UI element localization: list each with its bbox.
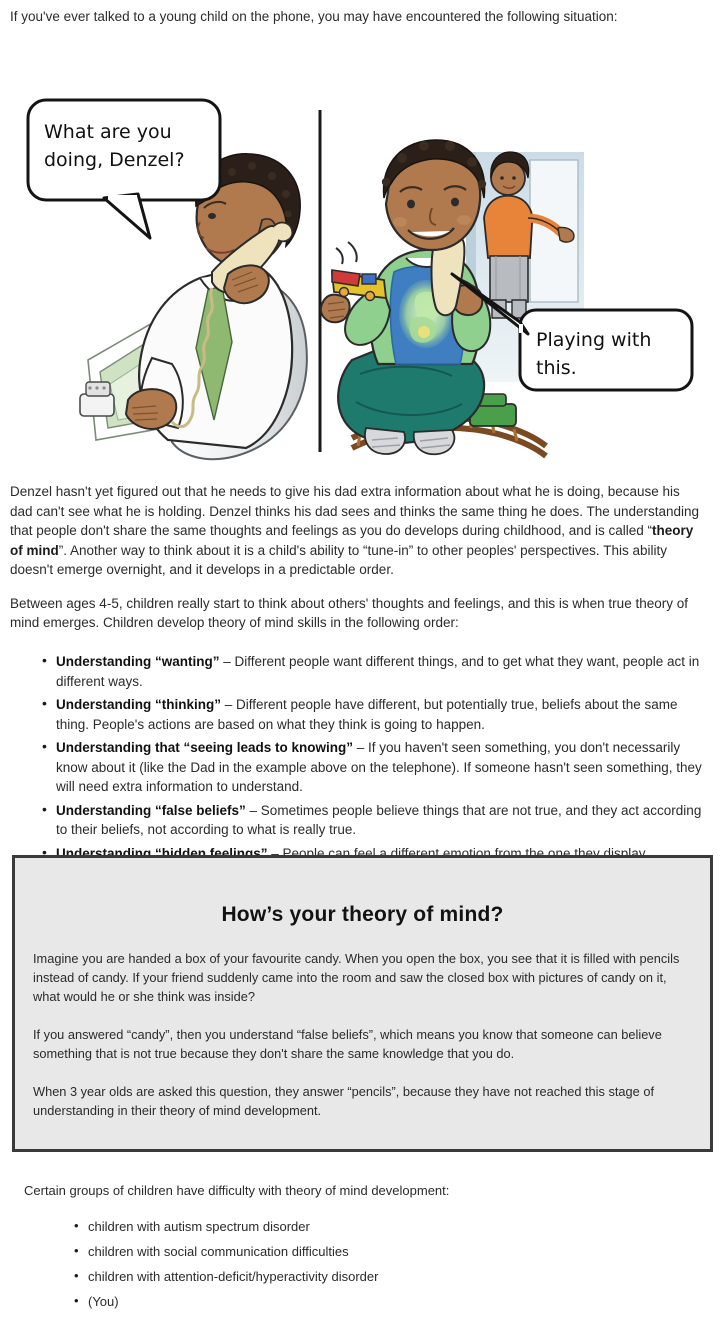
body-paragraphs: Denzel hasn't yet figured out that he ne… bbox=[10, 482, 702, 647]
list-item: children with attention-deficit/hyperact… bbox=[74, 1268, 704, 1285]
groups-list-wrap: children with autism spectrum disorder c… bbox=[24, 1218, 704, 1318]
theory-of-mind-quiz-callout: How’s your theory of mind? Imagine you a… bbox=[12, 855, 713, 1152]
list-item-term: Understanding that “seeing leads to know… bbox=[56, 740, 353, 755]
list-item: Understanding “false beliefs” – Sometime… bbox=[42, 801, 708, 840]
list-item-term: Understanding “wanting” bbox=[56, 654, 220, 669]
paragraph-ages: Between ages 4-5, children really start … bbox=[10, 594, 702, 633]
left-panel-dad-scene: What are you doing, Denzel? bbox=[28, 100, 307, 459]
paragraph-theory-of-mind: Denzel hasn't yet figured out that he ne… bbox=[10, 482, 702, 580]
list-item: (You) bbox=[74, 1293, 704, 1310]
list-item: Understanding “thinking” – Different peo… bbox=[42, 695, 708, 734]
tom-skills-list-wrap: Understanding “wanting” – Different peop… bbox=[8, 652, 708, 867]
groups-intro: Certain groups of children have difficul… bbox=[24, 1182, 704, 1199]
list-item-term: Understanding “thinking” bbox=[56, 697, 221, 712]
intro-paragraph: If you've ever talked to a young child o… bbox=[10, 8, 710, 26]
callout-title: How’s your theory of mind? bbox=[15, 858, 710, 927]
list-item: Understanding that “seeing leads to know… bbox=[42, 738, 708, 797]
callout-paragraph-1: Imagine you are handed a box of your fav… bbox=[33, 949, 690, 1006]
right-panel-denzel-scene: Playing with this. bbox=[321, 140, 692, 456]
theory-of-mind-comic-illustration: What are you doing, Denzel? bbox=[0, 42, 720, 462]
list-item: Understanding “wanting” – Different peop… bbox=[42, 652, 708, 691]
callout-body: Imagine you are handed a box of your fav… bbox=[15, 927, 710, 1120]
tom-skills-list: Understanding “wanting” – Different peop… bbox=[8, 652, 708, 863]
speech-bubble-dad: What are you doing, Denzel? bbox=[28, 100, 220, 238]
callout-paragraph-2: If you answered “candy”, then you unders… bbox=[33, 1025, 690, 1063]
paragraph-1-part-1: Denzel hasn't yet figured out that he ne… bbox=[10, 484, 699, 538]
paragraph-1-part-2: ”. Another way to think about it is a ch… bbox=[10, 543, 667, 578]
list-item: children with social communication diffi… bbox=[74, 1243, 704, 1260]
groups-list: children with autism spectrum disorder c… bbox=[24, 1218, 704, 1310]
article-page: If you've ever talked to a young child o… bbox=[0, 0, 720, 1316]
speech-bubble-denzel-line2: this. bbox=[536, 357, 577, 379]
denzel-arm-with-train bbox=[321, 242, 390, 345]
speech-bubble-dad-line1: What are you bbox=[44, 121, 172, 143]
list-item: children with autism spectrum disorder bbox=[74, 1218, 704, 1235]
list-item-term: Understanding “false beliefs” bbox=[56, 803, 246, 818]
speech-bubble-dad-line2: doing, Denzel? bbox=[44, 149, 185, 171]
callout-paragraph-3: When 3 year olds are asked this question… bbox=[33, 1082, 690, 1120]
telephone-base bbox=[80, 382, 114, 416]
speech-bubble-denzel-line1: Playing with bbox=[536, 329, 651, 351]
